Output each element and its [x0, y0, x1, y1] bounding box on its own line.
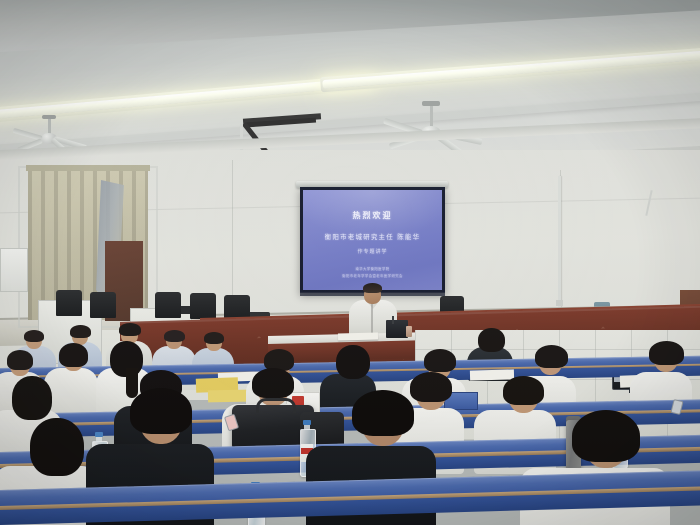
- cup: [406, 326, 412, 337]
- microphone: [392, 316, 394, 324]
- slide-line3: 作专题讲学: [303, 248, 442, 255]
- office-chair: [90, 292, 116, 318]
- bag-handle: [256, 398, 296, 413]
- slide-footer-1: 南华大学衡阳医学院: [303, 266, 442, 271]
- office-chair: [155, 292, 181, 318]
- speaker-hair: [363, 283, 382, 293]
- slide-footer-2: 衡阳市老年学学会暨老年医学研究会: [303, 273, 442, 278]
- whiteboard: [0, 248, 28, 292]
- speaker-shirt-placket: [371, 304, 373, 336]
- lecture-hall-photo: 热烈欢迎 衡阳市老城研究主任 陈能华 作专题讲学 南华大学衡阳医学院 衡阳市老年…: [0, 0, 700, 525]
- ceiling-fan: [430, 105, 432, 107]
- conduit-clip: [556, 300, 563, 306]
- slide-title: 热烈欢迎: [303, 210, 442, 221]
- projection-screen: 热烈欢迎 衡阳市老城研究主任 陈能华 作专题讲学 南华大学衡阳医学院 衡阳市老年…: [300, 187, 445, 293]
- slide-subtitle: 衡阳市老城研究主任 陈能华: [303, 231, 442, 241]
- paper-sheet: [470, 369, 514, 380]
- curtain-rail: [26, 165, 150, 171]
- papers-on-table: [338, 332, 378, 340]
- office-chair: [56, 290, 82, 316]
- nameplate: [386, 320, 408, 338]
- slide-surface: 热烈欢迎 衡阳市老城研究主任 陈能华 作专题讲学 南华大学衡阳医学院 衡阳市老年…: [303, 190, 442, 290]
- ceiling-fan: [48, 118, 50, 120]
- office-chair: [190, 293, 216, 319]
- yellow-folder: [208, 390, 248, 403]
